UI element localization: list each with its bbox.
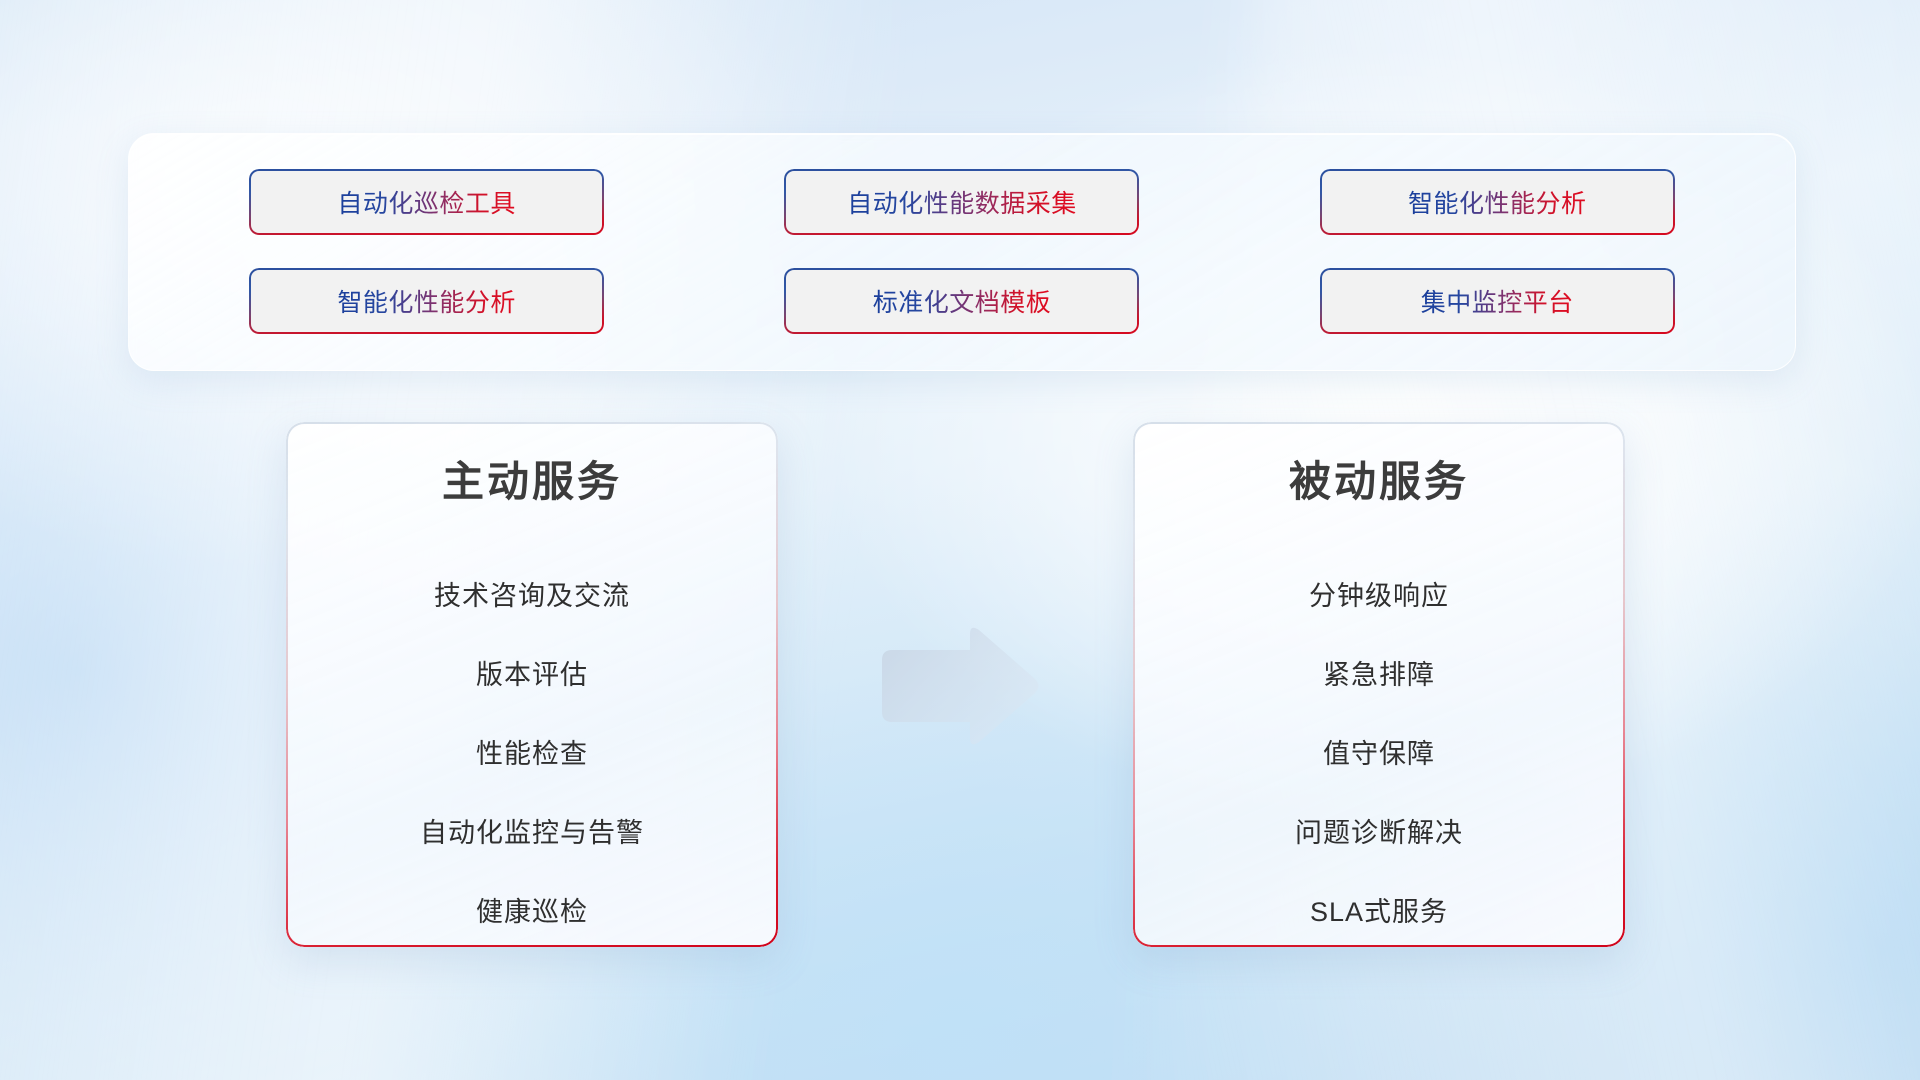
arrow-right-icon bbox=[874, 622, 1044, 750]
list-item: 技术咨询及交流 bbox=[434, 557, 630, 636]
capability-pill-label: 智能化性能分析 bbox=[337, 283, 516, 319]
capability-pill-label: 自动化性能数据采集 bbox=[847, 184, 1077, 220]
capability-pill-1[interactable]: 自动化巡检工具 bbox=[249, 169, 604, 235]
capability-panel: 自动化巡检工具 自动化性能数据采集 智能化性能分析 智能化性能分析 标准化文档模… bbox=[128, 133, 1796, 371]
list-item: 问题诊断解决 bbox=[1295, 794, 1463, 873]
passive-service-title: 被动服务 bbox=[1289, 456, 1469, 509]
passive-service-list: 分钟级响应 紧急排障 值守保障 问题诊断解决 SLA式服务 bbox=[1167, 557, 1591, 948]
list-item: SLA式服务 bbox=[1310, 873, 1448, 948]
list-item: 分钟级响应 bbox=[1309, 557, 1449, 636]
active-service-list: 技术咨询及交流 版本评估 性能检查 自动化监控与告警 健康巡检 bbox=[320, 557, 744, 948]
capability-pill-grid: 自动化巡检工具 自动化性能数据采集 智能化性能分析 智能化性能分析 标准化文档模… bbox=[129, 134, 1795, 370]
list-item: 性能检查 bbox=[476, 715, 588, 794]
passive-service-card: 被动服务 分钟级响应 紧急排障 值守保障 问题诊断解决 SLA式服务 bbox=[1133, 422, 1625, 947]
list-item: 健康巡检 bbox=[476, 873, 588, 948]
capability-pill-5[interactable]: 标准化文档模板 bbox=[784, 268, 1139, 334]
list-item: 紧急排障 bbox=[1323, 636, 1435, 715]
capability-pill-4[interactable]: 智能化性能分析 bbox=[249, 268, 604, 334]
capability-pill-label: 标准化文档模板 bbox=[873, 283, 1052, 319]
capability-pill-label: 智能化性能分析 bbox=[1408, 184, 1587, 220]
passive-service-card-body: 被动服务 分钟级响应 紧急排障 值守保障 问题诊断解决 SLA式服务 bbox=[1133, 422, 1625, 947]
list-item: 版本评估 bbox=[476, 636, 588, 715]
capability-pill-label: 集中监控平台 bbox=[1421, 283, 1574, 319]
active-service-card: 主动服务 技术咨询及交流 版本评估 性能检查 自动化监控与告警 健康巡检 bbox=[286, 422, 778, 947]
active-service-title: 主动服务 bbox=[442, 456, 622, 509]
active-service-card-body: 主动服务 技术咨询及交流 版本评估 性能检查 自动化监控与告警 健康巡检 bbox=[286, 422, 778, 947]
list-item: 自动化监控与告警 bbox=[420, 794, 644, 873]
slide-canvas: 自动化巡检工具 自动化性能数据采集 智能化性能分析 智能化性能分析 标准化文档模… bbox=[0, 0, 1920, 1080]
capability-pill-3[interactable]: 智能化性能分析 bbox=[1320, 169, 1675, 235]
capability-pill-label: 自动化巡检工具 bbox=[337, 184, 516, 220]
capability-pill-2[interactable]: 自动化性能数据采集 bbox=[784, 169, 1139, 235]
capability-pill-6[interactable]: 集中监控平台 bbox=[1320, 268, 1675, 334]
list-item: 值守保障 bbox=[1323, 715, 1435, 794]
